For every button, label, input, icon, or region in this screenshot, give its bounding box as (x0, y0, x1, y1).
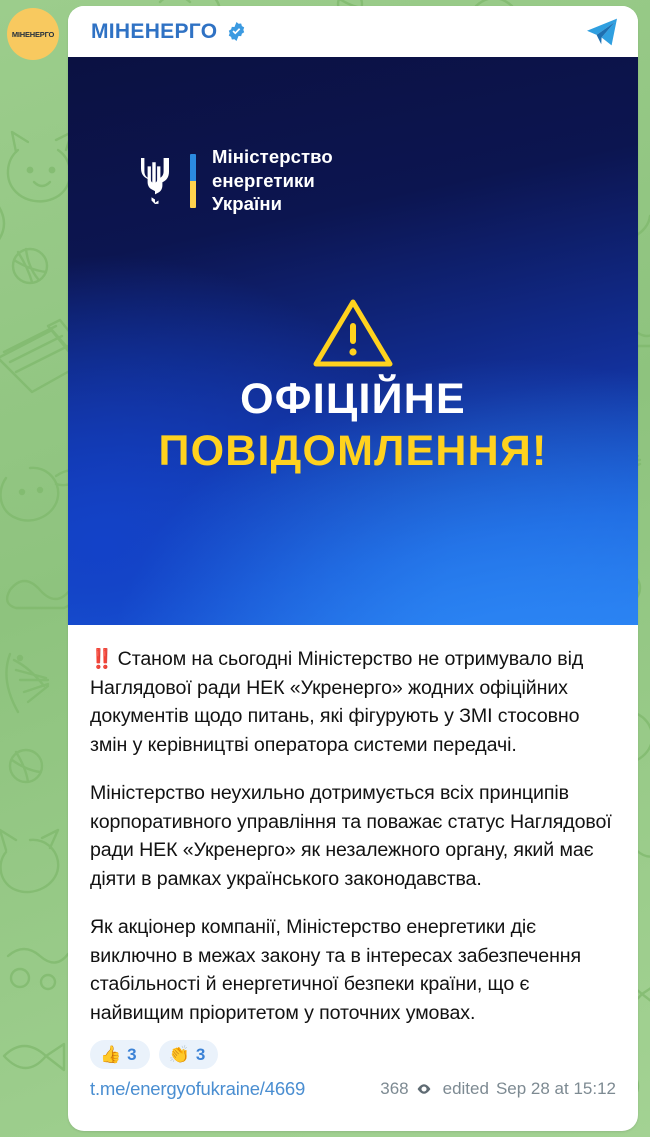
channel-avatar[interactable]: МІНЕНЕРГО (7, 8, 59, 60)
post-header: МІНЕНЕРГО (68, 6, 638, 57)
headline-line-2: ПОВІДОМЛЕННЯ! (68, 425, 638, 477)
post-meta: 368 edited Sep 28 at 15:12 (380, 1079, 616, 1099)
flag-divider-bar (190, 154, 196, 208)
eye-icon (416, 1081, 432, 1097)
views-count: 368 (380, 1079, 408, 1099)
thumbs-up-reaction[interactable]: 👍 3 (90, 1040, 150, 1069)
edited-label: edited (443, 1079, 489, 1099)
ministry-name: Міністерство енергетики України (212, 145, 333, 216)
ministry-logo-lockup: Міністерство енергетики України (138, 145, 333, 216)
headline-line-1: ОФІЦІЙНЕ (68, 373, 638, 425)
post-body: ‼️Станом на сьогодні Міністерство не отр… (68, 625, 638, 1031)
avatar-label: МІНЕНЕРГО (12, 30, 54, 39)
post-permalink[interactable]: t.me/energyofukraine/4669 (90, 1078, 305, 1100)
post-paragraph-2: Міністерство неухильно дотримується всіх… (90, 779, 616, 893)
clap-icon: 👏 (169, 1046, 190, 1063)
post-footer: t.me/energyofukraine/4669 368 edited Sep… (68, 1069, 638, 1100)
hero-headline: ОФІЦІЙНЕ ПОВІДОМЛЕННЯ! (68, 373, 638, 478)
post-paragraph-1: ‼️Станом на сьогодні Міністерство не отр… (90, 645, 616, 759)
post-image[interactable]: Міністерство енергетики України ОФІЦІЙНЕ… (68, 57, 638, 625)
thumbs-up-count: 3 (127, 1046, 136, 1063)
post-paragraph-3: Як акціонер компанії, Міністерство енерг… (90, 913, 616, 1027)
telegram-post-card: МІНЕНЕРГО Міністерство енергетики Україн… (68, 6, 638, 1131)
reactions-bar: 👍 3 👏 3 (68, 1031, 638, 1069)
telegram-plane-icon[interactable] (582, 12, 622, 52)
ukraine-trident-icon (138, 156, 172, 206)
warning-triangle-icon (312, 297, 394, 369)
post-paragraph-1-text: Станом на сьогодні Міністерство не отрим… (90, 648, 583, 756)
clap-count: 3 (196, 1046, 205, 1063)
clap-reaction[interactable]: 👏 3 (159, 1040, 219, 1069)
double-exclamation-icon: ‼️ (90, 649, 114, 670)
channel-name[interactable]: МІНЕНЕРГО (91, 20, 217, 44)
post-timestamp: Sep 28 at 15:12 (496, 1079, 616, 1099)
thumbs-up-icon: 👍 (100, 1046, 121, 1063)
warning-icon-wrap (68, 297, 638, 369)
verified-badge-icon (226, 21, 247, 42)
